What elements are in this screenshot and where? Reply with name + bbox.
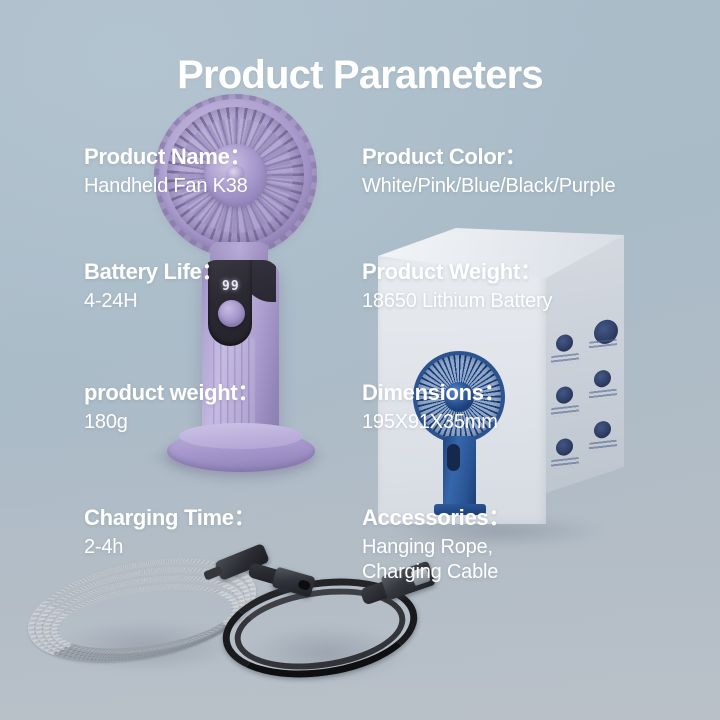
page-title: Product Parameters	[0, 53, 720, 98]
spec-value-line-2: Charging Cable	[362, 560, 510, 585]
spec-label: Battery Life：	[84, 259, 223, 285]
feature-icon-4	[594, 369, 611, 388]
product-image-charging-cable	[212, 566, 462, 696]
spec-product-name: Product Name： Handheld Fan K38	[84, 144, 251, 199]
spec-value: 18650 Lithium Battery	[362, 289, 552, 314]
spec-product-color: Product Color： White/Pink/Blue/Black/Pur…	[362, 144, 615, 199]
spec-label: Dimensions：	[362, 380, 505, 406]
spec-accessories: Accessories： Hanging Rope, Charging Cabl…	[362, 505, 510, 585]
spec-value: 195X91X35mm	[362, 410, 505, 435]
feature-icon-1	[556, 334, 573, 353]
spec-product-weight-battery: Product Weight： 18650 Lithium Battery	[362, 259, 552, 314]
feature-icon-3	[556, 386, 573, 405]
spec-label: product weight：	[84, 380, 259, 406]
spec-value: 180g	[84, 410, 259, 435]
printed-fan-handle	[443, 436, 476, 510]
box-feature-icon-grid	[554, 322, 620, 480]
feature-icon-2	[594, 318, 618, 345]
spec-battery-life: Battery Life： 4-24H	[84, 259, 223, 314]
spec-product-weight: product weight： 180g	[84, 380, 259, 435]
feature-icon-5	[556, 438, 573, 457]
spec-value: 2-4h	[84, 535, 255, 560]
fan-lcd-display: 99	[222, 279, 240, 294]
product-parameters-infographic: 99	[0, 0, 720, 720]
spec-label: Product Weight：	[362, 259, 552, 285]
spec-label: Product Color：	[362, 144, 615, 170]
spec-value-line-1: Hanging Rope,	[362, 535, 510, 560]
feature-icon-6	[594, 420, 611, 439]
spec-value: Handheld Fan K38	[84, 174, 251, 199]
spec-value: White/Pink/Blue/Black/Purple	[362, 174, 615, 199]
spec-label: Product Name：	[84, 144, 251, 170]
spec-label: Charging Time：	[84, 505, 255, 531]
spec-value: 4-24H	[84, 289, 223, 314]
printed-fan-panel	[447, 444, 460, 471]
spec-label: Accessories：	[362, 505, 510, 531]
spec-charging-time: Charging Time： 2-4h	[84, 505, 255, 560]
spec-dimensions: Dimensions： 195X91X35mm	[362, 380, 505, 435]
